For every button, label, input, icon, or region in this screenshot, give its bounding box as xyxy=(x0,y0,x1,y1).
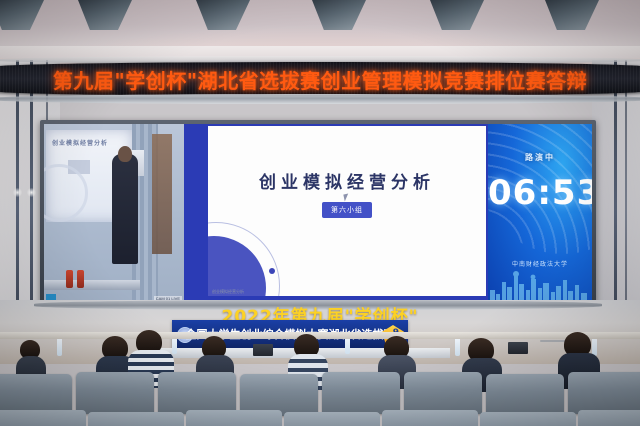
auditorium-seat-icon xyxy=(284,412,380,426)
auditorium-seat-icon xyxy=(0,410,86,426)
feed-doorway xyxy=(152,134,172,254)
auditorium-seat-icon xyxy=(382,410,478,426)
audience-area xyxy=(0,330,640,426)
feed-projection-text: 创业模拟经营分析 xyxy=(52,138,128,147)
auditorium-seat-icon xyxy=(76,372,154,414)
auditorium-seat-icon xyxy=(158,372,236,414)
auditorium-seat-icon xyxy=(578,410,640,426)
desk-row xyxy=(0,332,640,339)
main-led-wall: 创业模拟经营分析 CAM 01 LIVE xyxy=(40,120,596,308)
led-panel: 第九届"学创杯"湖北省选拔赛创业管理模拟竞赛排位赛答辩 xyxy=(0,62,640,96)
feed-presenter-head xyxy=(118,146,132,162)
city-skyline-icon xyxy=(488,270,592,304)
ceiling xyxy=(0,0,640,62)
slide-decor-dot xyxy=(269,268,275,274)
fire-extinguisher-icon xyxy=(66,270,73,288)
mouse-cursor-icon xyxy=(343,194,349,202)
timer-value: 06:53 xyxy=(488,176,592,210)
banner-rail-bottom xyxy=(0,94,640,104)
auditorium-seat-icon xyxy=(322,372,400,414)
timer-school-name: 中南财经政法大学 xyxy=(488,259,592,268)
wall-light-icon xyxy=(27,188,36,197)
auditorium-seat-icon xyxy=(486,374,564,416)
wall-light-icon xyxy=(13,188,22,197)
slide-title: 创业模拟经营分析 xyxy=(208,168,486,193)
auditorium-seat-icon xyxy=(0,374,72,414)
countdown-timer-panel: 路演中 06:53 中南财经政法大学 xyxy=(488,124,592,304)
presenter-video-feed: 创业模拟经营分析 CAM 01 LIVE xyxy=(44,124,184,304)
auditorium-seat-icon xyxy=(480,412,576,426)
feed-bench xyxy=(44,280,140,290)
auditorium-seat-icon xyxy=(404,372,482,414)
led-wall-content: 创业模拟经营分析 CAM 01 LIVE xyxy=(44,124,592,304)
conference-hall-photo: 第九届"学创杯"湖北省选拔赛创业管理模拟竞赛排位赛答辩 创业模拟经营分析 xyxy=(0,0,640,426)
slide-area: 创业模拟经营分析 第六小组 创业模拟经营分析 xyxy=(184,124,488,304)
fire-extinguisher-icon xyxy=(77,270,84,288)
auditorium-seat-icon xyxy=(88,412,184,426)
slide-footer-note: 创业模拟经营分析 xyxy=(212,289,244,295)
timer-status-label: 路演中 xyxy=(488,152,592,163)
led-header-banner: 第九届"学创杯"湖北省选拔赛创业管理模拟竞赛排位赛答辩 xyxy=(0,58,640,104)
auditorium-seat-icon xyxy=(568,372,640,414)
presentation-slide: 创业模拟经营分析 第六小组 创业模拟经营分析 xyxy=(208,126,486,296)
feed-presenter-body xyxy=(112,154,138,264)
auditorium-seat-icon xyxy=(186,410,282,426)
led-banner-text: 第九届"学创杯"湖北省选拔赛创业管理模拟竞赛排位赛答辩 xyxy=(0,62,640,96)
slide-group-badge: 第六小组 xyxy=(322,202,372,218)
